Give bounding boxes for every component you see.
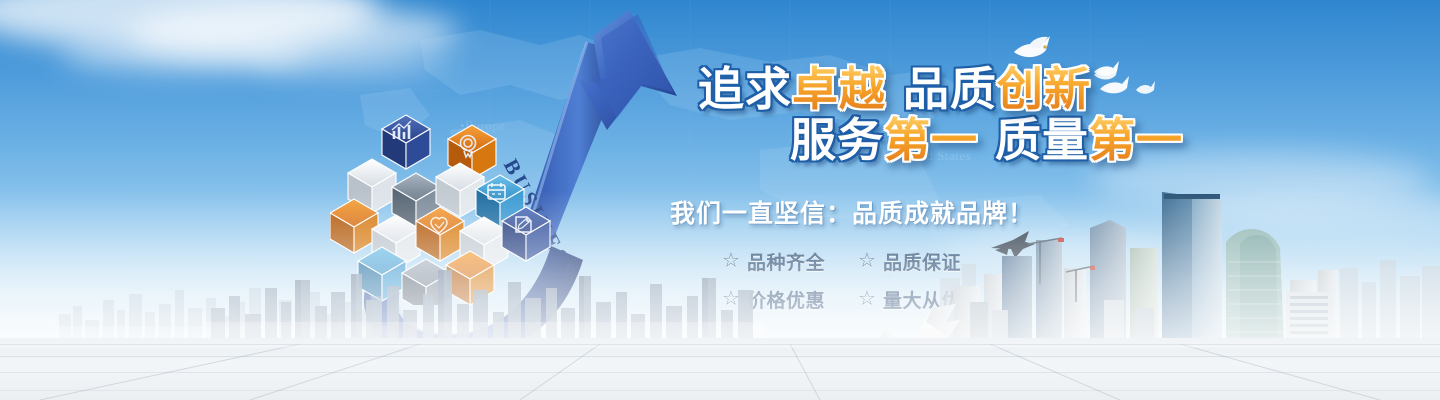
- horizon-haze: [0, 190, 1440, 360]
- headline-1-space: [886, 62, 903, 116]
- headline-1-part-3: 品质: [903, 62, 997, 116]
- headline-1-part-2: 卓越: [792, 62, 886, 116]
- cloud-wisp: [60, 34, 310, 74]
- cloud-wisp: [0, 0, 380, 50]
- headline-line-1: 追求卓越 品质创新: [660, 66, 1200, 113]
- headline-1-part-4: 创新: [997, 62, 1091, 116]
- headline-2-part-4: 第一: [1089, 113, 1183, 167]
- headline-2-part-3: 质量: [995, 113, 1089, 167]
- plaza-floor: [0, 338, 1440, 400]
- headline-1-part-1: 追求: [698, 62, 792, 116]
- headline-line-2: 服务第一 质量第一: [660, 117, 1200, 164]
- promo-banner: •Europe •United States •China •Australia: [0, 0, 1440, 400]
- headline-2-part-2: 第一: [884, 113, 978, 167]
- headline-2-part-1: 服务: [790, 113, 884, 167]
- headline-2-space: [978, 113, 995, 167]
